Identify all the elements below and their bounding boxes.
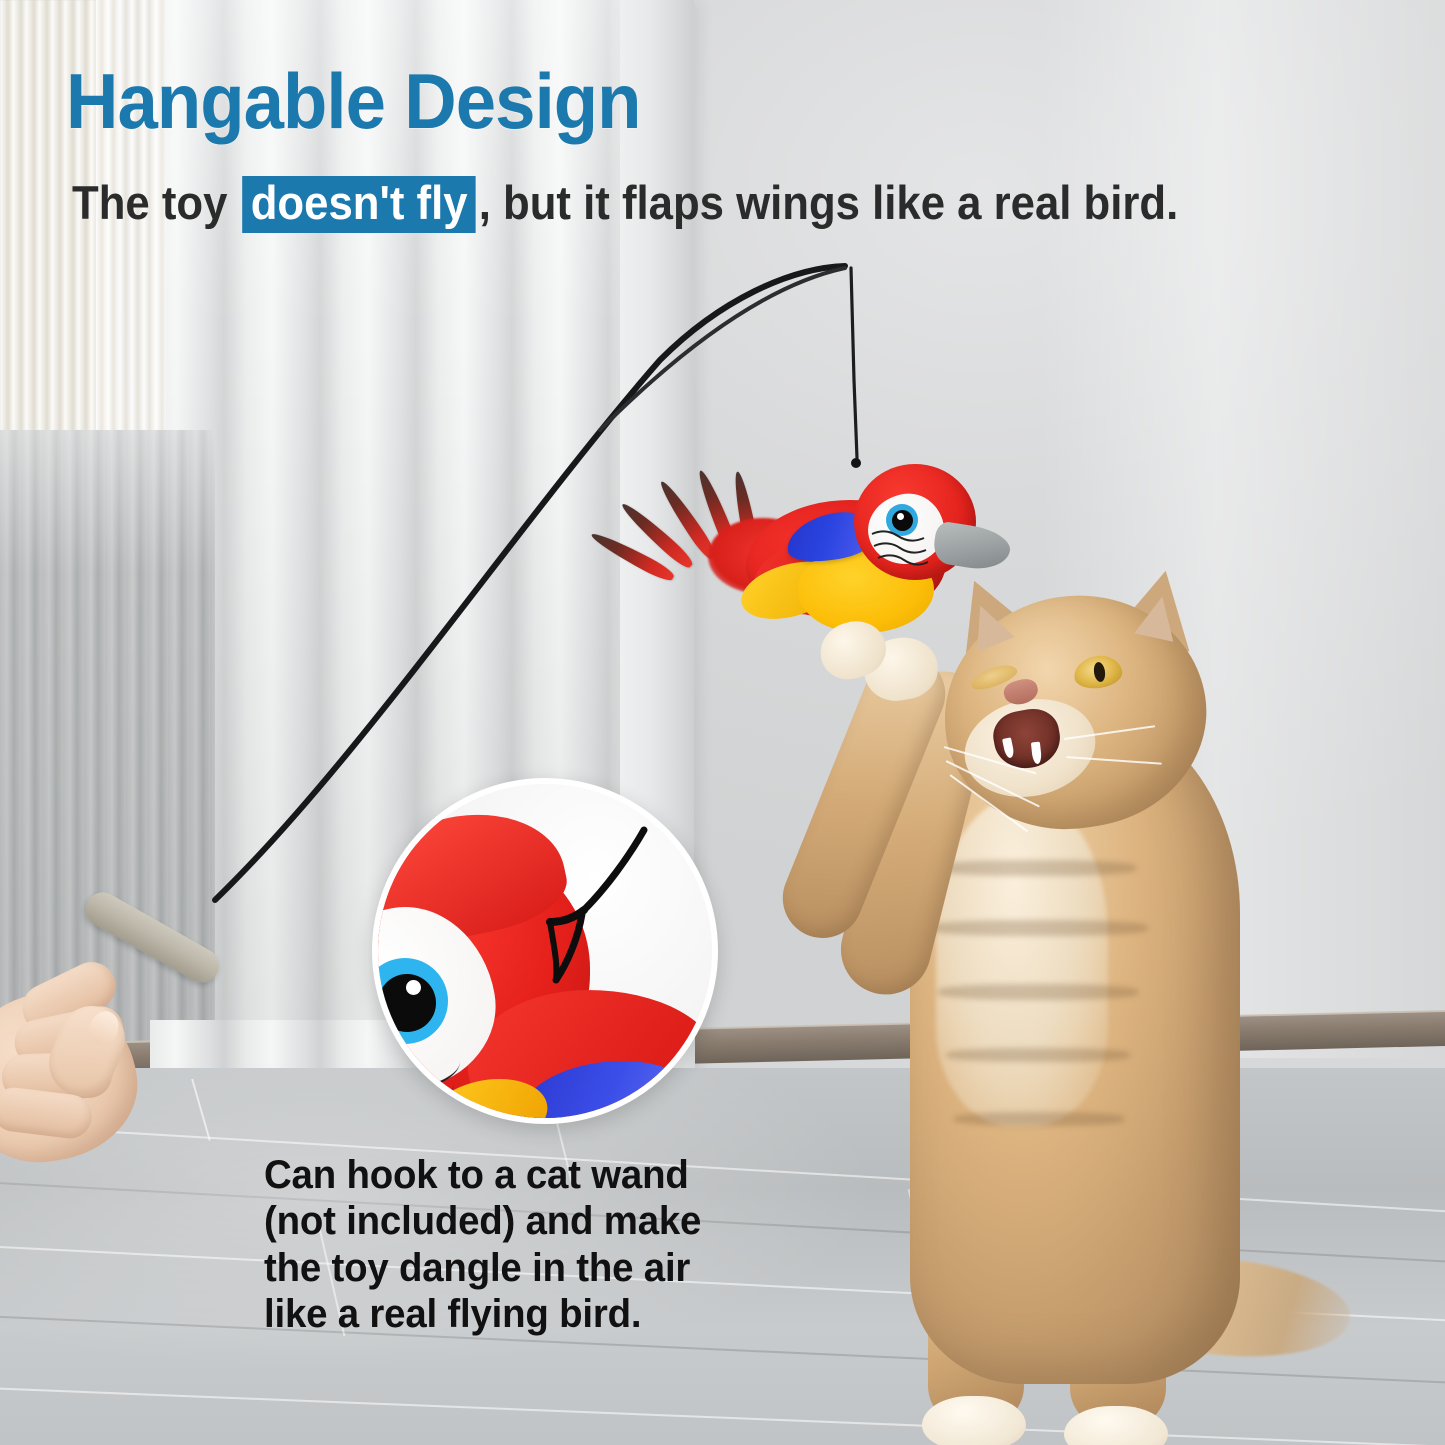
product-feature-graphic: Hangable Design The toy doesn't fly, but… [0, 0, 1445, 1445]
subtitle: The toy doesn't fly, but it flaps wings … [72, 176, 1178, 233]
subtitle-after: , but it flaps wings like a real bird. [479, 176, 1179, 229]
tabby-cat [818, 560, 1445, 1445]
page-title: Hangable Design [66, 62, 641, 140]
bird-eye-glint [897, 513, 904, 520]
feature-caption: Can hook to a cat wand (not included) an… [264, 1152, 701, 1338]
hand-holding-wand [0, 965, 193, 1180]
inset-hook-knot [378, 784, 712, 1118]
closeup-inset-circle [372, 778, 718, 1124]
subtitle-before: The toy [72, 176, 227, 229]
cat-inner-ear-right [1134, 592, 1182, 641]
cat-hind-paw-left [922, 1396, 1026, 1445]
subtitle-highlight: doesn't fly [242, 176, 476, 233]
cat-chest-fur [936, 796, 1108, 1126]
